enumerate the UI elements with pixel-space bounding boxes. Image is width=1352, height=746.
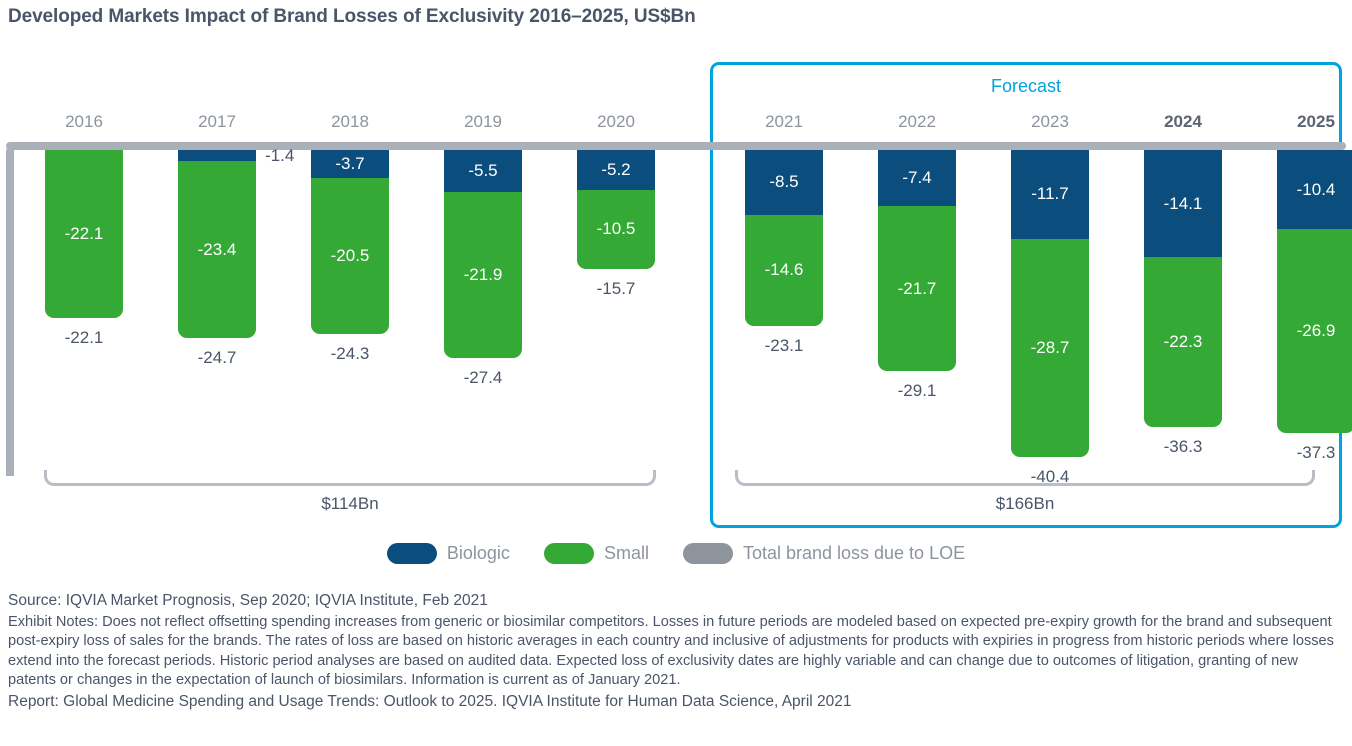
bar-segment-small-2019[interactable]: -21.9 bbox=[444, 192, 522, 358]
legend-swatch-icon-0 bbox=[387, 543, 437, 564]
bar-segment-small-2021[interactable]: -14.6 bbox=[745, 215, 823, 326]
chart-root: Developed Markets Impact of Brand Losses… bbox=[0, 0, 1352, 746]
year-label-2017: 2017 bbox=[162, 112, 272, 132]
year-label-2022: 2022 bbox=[862, 112, 972, 132]
legend-label-0: Biologic bbox=[447, 543, 510, 564]
bar-total-2019: -27.4 bbox=[423, 368, 543, 388]
year-label-2018: 2018 bbox=[295, 112, 405, 132]
bar-total-2021: -23.1 bbox=[724, 336, 844, 356]
bar-2018[interactable]: -3.7-20.5 bbox=[311, 150, 389, 334]
baseline-rail-stub bbox=[6, 146, 14, 476]
bar-2016[interactable]: -22.1 bbox=[45, 150, 123, 318]
bar-segment-biologic-2017[interactable]: -1.4 bbox=[178, 150, 256, 161]
bar-2020[interactable]: -5.2-10.5 bbox=[577, 150, 655, 269]
footnotes: Source: IQVIA Market Prognosis, Sep 2020… bbox=[8, 592, 1348, 711]
bar-value-small-2024: -22.3 bbox=[1164, 332, 1203, 352]
bar-segment-biologic-2024[interactable]: -14.1 bbox=[1144, 150, 1222, 257]
bar-segment-small-2020[interactable]: -10.5 bbox=[577, 190, 655, 270]
bar-2021[interactable]: -8.5-14.6 bbox=[745, 150, 823, 326]
bar-total-2024: -36.3 bbox=[1123, 437, 1243, 457]
bar-2017[interactable]: -1.4-23.4 bbox=[178, 150, 256, 338]
bar-value-small-2022: -21.7 bbox=[898, 279, 937, 299]
bar-value-biologic-2025: -10.4 bbox=[1297, 180, 1336, 200]
bar-value-small-2023: -28.7 bbox=[1031, 338, 1070, 358]
total-bracket-0 bbox=[44, 470, 656, 486]
bar-value-biologic-2018: -3.7 bbox=[335, 154, 364, 174]
legend-item-biologic[interactable]: Biologic bbox=[387, 543, 510, 564]
bar-segment-biologic-2019[interactable]: -5.5 bbox=[444, 150, 522, 192]
bar-value-biologic-2017: -1.4 bbox=[265, 146, 294, 166]
year-label-2021: 2021 bbox=[729, 112, 839, 132]
total-bracket-1 bbox=[735, 470, 1315, 486]
bar-2019[interactable]: -5.5-21.9 bbox=[444, 150, 522, 358]
bar-value-small-2020: -10.5 bbox=[597, 219, 636, 239]
bar-value-small-2018: -20.5 bbox=[331, 246, 370, 266]
legend-swatch-icon-2 bbox=[683, 543, 733, 564]
bar-segment-biologic-2020[interactable]: -5.2 bbox=[577, 150, 655, 190]
bar-total-2020: -15.7 bbox=[556, 279, 676, 299]
bar-segment-small-2016[interactable]: -22.1 bbox=[45, 150, 123, 318]
bar-2022[interactable]: -7.4-21.7 bbox=[878, 150, 956, 371]
bar-value-biologic-2024: -14.1 bbox=[1164, 194, 1203, 214]
bar-segment-biologic-2018[interactable]: -3.7 bbox=[311, 150, 389, 178]
total-bracket-label-1: $166Bn bbox=[735, 494, 1315, 514]
bar-total-2025: -37.3 bbox=[1256, 443, 1352, 463]
bar-segment-small-2018[interactable]: -20.5 bbox=[311, 178, 389, 334]
legend-item-small[interactable]: Small bbox=[544, 543, 649, 564]
bar-segment-biologic-2021[interactable]: -8.5 bbox=[745, 150, 823, 215]
bar-segment-small-2023[interactable]: -28.7 bbox=[1011, 239, 1089, 457]
legend-label-2: Total brand loss due to LOE bbox=[743, 543, 965, 564]
legend-label-1: Small bbox=[604, 543, 649, 564]
bar-total-2022: -29.1 bbox=[857, 381, 977, 401]
year-label-2023: 2023 bbox=[995, 112, 1105, 132]
bar-total-2016: -22.1 bbox=[24, 328, 144, 348]
bar-value-biologic-2019: -5.5 bbox=[468, 161, 497, 181]
plot-area: 2016201720182019202020212022202320242025… bbox=[0, 0, 1352, 540]
bar-total-2018: -24.3 bbox=[290, 344, 410, 364]
bar-2025[interactable]: -10.4-26.9 bbox=[1277, 150, 1352, 433]
bar-segment-small-2022[interactable]: -21.7 bbox=[878, 206, 956, 371]
year-label-2024: 2024 bbox=[1128, 112, 1238, 132]
bar-value-biologic-2023: -11.7 bbox=[1031, 184, 1069, 204]
bar-2023[interactable]: -11.7-28.7 bbox=[1011, 150, 1089, 457]
legend-item-total-brand-loss-due-to-loe[interactable]: Total brand loss due to LOE bbox=[683, 543, 965, 564]
total-bracket-label-0: $114Bn bbox=[44, 494, 656, 514]
bar-segment-small-2024[interactable]: -22.3 bbox=[1144, 257, 1222, 426]
baseline-rail bbox=[6, 142, 1346, 150]
year-label-2016: 2016 bbox=[29, 112, 139, 132]
baseline-rail-line bbox=[6, 142, 1346, 150]
bar-value-biologic-2021: -8.5 bbox=[769, 172, 798, 192]
bar-total-2017: -24.7 bbox=[157, 348, 277, 368]
bar-value-small-2016: -22.1 bbox=[65, 224, 104, 244]
footnote-exhibit-notes: Exhibit Notes: Does not reflect offsetti… bbox=[8, 613, 1348, 690]
year-label-2025: 2025 bbox=[1261, 112, 1352, 132]
bar-value-small-2019: -21.9 bbox=[464, 265, 503, 285]
year-label-2020: 2020 bbox=[561, 112, 671, 132]
bar-value-small-2021: -14.6 bbox=[765, 260, 804, 280]
bar-segment-biologic-2022[interactable]: -7.4 bbox=[878, 150, 956, 206]
legend: BiologicSmallTotal brand loss due to LOE bbox=[0, 543, 1352, 564]
bar-value-small-2025: -26.9 bbox=[1297, 321, 1336, 341]
bar-value-small-2017: -23.4 bbox=[198, 240, 237, 260]
footnote-source: Source: IQVIA Market Prognosis, Sep 2020… bbox=[8, 592, 1348, 610]
legend-swatch-icon-1 bbox=[544, 543, 594, 564]
bar-segment-biologic-2023[interactable]: -11.7 bbox=[1011, 150, 1089, 239]
bar-2024[interactable]: -14.1-22.3 bbox=[1144, 150, 1222, 427]
year-label-2019: 2019 bbox=[428, 112, 538, 132]
footnote-report: Report: Global Medicine Spending and Usa… bbox=[8, 693, 1348, 711]
bar-segment-small-2017[interactable]: -23.4 bbox=[178, 161, 256, 339]
bar-value-biologic-2022: -7.4 bbox=[902, 168, 931, 188]
bar-value-biologic-2020: -5.2 bbox=[601, 160, 630, 180]
bar-segment-small-2025[interactable]: -26.9 bbox=[1277, 229, 1352, 433]
bar-segment-biologic-2025[interactable]: -10.4 bbox=[1277, 150, 1352, 229]
